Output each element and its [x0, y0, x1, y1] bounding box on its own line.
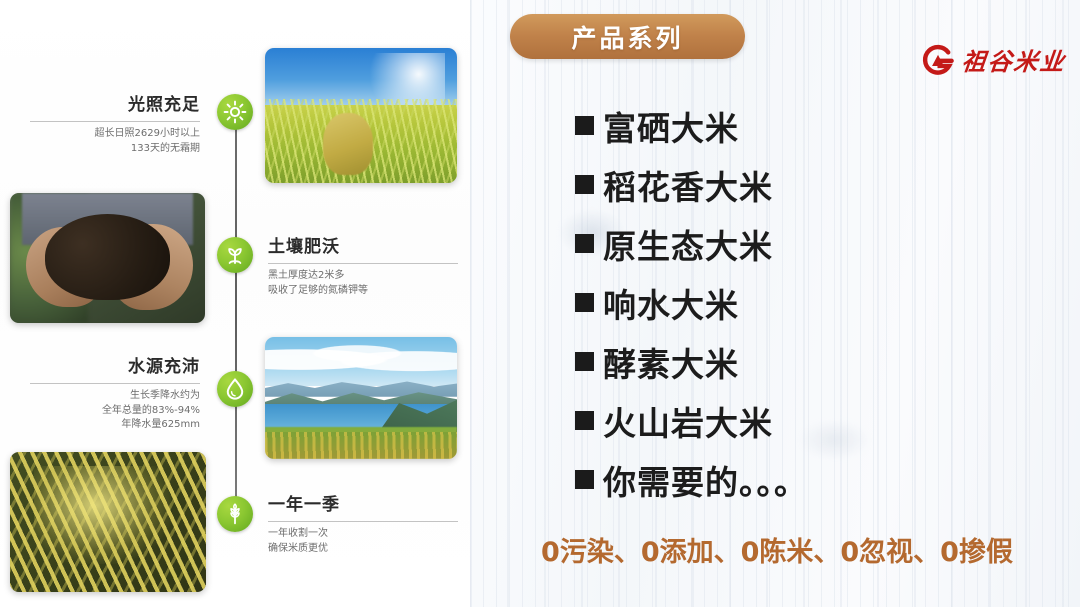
product-list: 富硒大米 稻花香大米 原生态大米 响水大米 酵素大米 火山岩大米: [575, 96, 1055, 509]
left-infographic-panel: 光照充足 超长日照2629小时以上 133天的无霜期 土壤肥沃 黑土厚度达2米多…: [0, 0, 470, 607]
divider: [30, 383, 200, 384]
feature-block-soil: 土壤肥沃 黑土厚度达2米多 吸收了足够的氮磷钾等: [268, 232, 458, 298]
clouds-layer: [265, 341, 457, 373]
water-drop-icon: [217, 371, 253, 407]
lake-mountain-photo: [265, 337, 457, 459]
product-label: 原生态大米: [603, 220, 773, 268]
soil-clump-layer: [45, 214, 170, 300]
product-list-item[interactable]: 火山岩大米: [575, 391, 1055, 450]
golden-rice-photo: [10, 452, 206, 592]
product-list-item[interactable]: 稻花香大米: [575, 155, 1055, 214]
square-bullet-icon: [575, 470, 594, 489]
brand-name: 祖谷米业: [960, 42, 1068, 77]
feature-block-sunlight: 光照充足 超长日照2629小时以上 133天的无霜期: [30, 90, 200, 156]
brand-logo: 祖谷米业: [921, 42, 1066, 77]
feature-line: 超长日照2629小时以上: [30, 127, 200, 142]
black-soil-photo: [10, 193, 205, 323]
square-bullet-icon: [575, 234, 594, 253]
quality-promise-text: 0污染、0添加、0陈米、0忽视、0掺假: [494, 530, 1060, 569]
feature-line: 吸收了足够的氮磷钾等: [268, 284, 458, 299]
product-label: 稻花香大米: [603, 161, 773, 209]
product-label: 你需要的。。。: [603, 456, 808, 504]
product-list-item[interactable]: 响水大米: [575, 273, 1055, 332]
feature-block-harvest: 一年一季 一年收割一次 确保米质更优: [268, 490, 458, 556]
series-title-label: 产品系列: [571, 19, 683, 55]
slide-root: 光照充足 超长日照2629小时以上 133天的无霜期 土壤肥沃 黑土厚度达2米多…: [0, 0, 1080, 607]
product-list-item[interactable]: 富硒大米: [575, 96, 1055, 155]
square-bullet-icon: [575, 116, 594, 135]
square-bullet-icon: [575, 352, 594, 371]
square-bullet-icon: [575, 175, 594, 194]
product-list-item[interactable]: 你需要的。。。: [575, 450, 1055, 509]
brand-g-icon: [921, 43, 955, 77]
feature-title: 水源充沛: [30, 352, 200, 377]
square-bullet-icon: [575, 411, 594, 430]
square-bullet-icon: [575, 293, 594, 312]
feature-line: 生长季降水约为: [30, 389, 200, 404]
feature-line: 全年总量的83%-94%: [30, 404, 200, 419]
feature-line: 确保米质更优: [268, 542, 458, 557]
feature-block-water: 水源充沛 生长季降水约为 全年总量的83%-94% 年降水量625mm: [30, 352, 200, 433]
product-label: 响水大米: [603, 279, 739, 327]
rice-field-photo: [265, 48, 457, 183]
product-label: 火山岩大米: [603, 397, 773, 445]
product-list-item[interactable]: 酵素大米: [575, 332, 1055, 391]
timeline-connector-line: [235, 108, 237, 520]
divider: [30, 121, 200, 122]
divider: [268, 521, 458, 522]
product-label: 富硒大米: [603, 102, 739, 150]
feature-line: 年降水量625mm: [30, 418, 200, 433]
feature-title: 光照充足: [30, 90, 200, 115]
product-label: 酵素大米: [603, 338, 739, 386]
feature-line: 黑土厚度达2米多: [268, 269, 458, 284]
sun-icon: [217, 94, 253, 130]
sprout-icon: [217, 237, 253, 273]
product-list-item[interactable]: 原生态大米: [575, 214, 1055, 273]
feature-line: 133天的无霜期: [30, 142, 200, 157]
foreground-texture-layer: [265, 432, 457, 459]
wheat-icon: [217, 496, 253, 532]
right-product-panel: 产品系列 祖谷米业 富硒大米 稻花香大米 原生态大米: [470, 0, 1080, 607]
series-title-banner: 产品系列: [510, 14, 745, 59]
feature-title: 一年一季: [268, 490, 458, 515]
feature-line: 一年收割一次: [268, 527, 458, 542]
highlight-layer: [34, 466, 171, 564]
rice-ear-layer: [323, 113, 373, 175]
divider: [268, 263, 458, 264]
feature-title: 土壤肥沃: [268, 232, 458, 257]
